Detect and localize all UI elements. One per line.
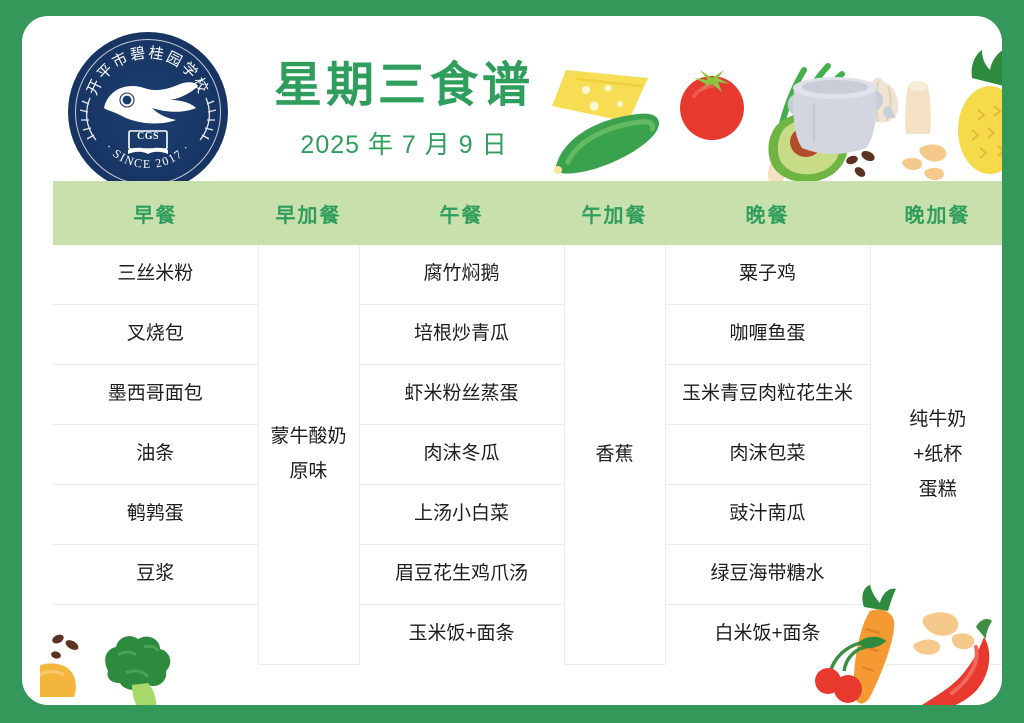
am-snack-cell: 蒙牛酸奶 原味 — [258, 245, 359, 664]
table-row: 墨西哥面包 虾米粉丝蒸蛋 玉米青豆肉粒花生米 — [53, 365, 1002, 425]
pot-and-seasoning-group — [780, 56, 980, 181]
table-row: 豆浆 眉豆花生鸡爪汤 绿豆海带糖水 — [53, 545, 1002, 605]
lunch-item: 玉米饭+面条 — [359, 605, 564, 665]
breakfast-item: 豆浆 — [53, 545, 258, 605]
column-header-dinner: 晚餐 — [665, 181, 870, 245]
raisin-icon — [845, 149, 876, 179]
cashew-icon — [902, 145, 946, 181]
eve-snack-line-1: 纯牛奶 — [875, 402, 1002, 437]
column-header-eve-snack: 晚加餐 — [870, 181, 1002, 245]
eve-snack-line-3: 蛋糕 — [875, 472, 1002, 507]
salt-shaker-icon — [905, 81, 931, 134]
column-header-pm-snack: 午加餐 — [564, 181, 665, 245]
lunch-item: 腐竹焖鹅 — [359, 245, 564, 305]
dinner-item: 咖喱鱼蛋 — [665, 305, 870, 365]
table-row: 三丝米粉 蒙牛酸奶 原味 腐竹焖鹅 香蕉 粟子鸡 纯牛奶 +纸杯 蛋糕 — [53, 245, 1002, 305]
lunch-item: 上汤小白菜 — [359, 485, 564, 545]
title-block: 星期三食谱 2025 年 7 月 9 日 — [254, 60, 554, 161]
cooking-pot-icon — [788, 77, 883, 154]
breakfast-item: 三丝米粉 — [53, 245, 258, 305]
table-row: 油条 肉沫冬瓜 肉沫包菜 — [53, 425, 1002, 485]
eve-snack-line-2: +纸杯 — [875, 437, 1002, 472]
school-logo: 开平市碧桂园学校 · SINCE 2017 · — [68, 32, 228, 192]
column-header-am-snack: 早加餐 — [258, 181, 359, 245]
logo-bird-emblem-icon — [96, 78, 200, 130]
cheese-icon — [552, 70, 648, 122]
lunch-item: 眉豆花生鸡爪汤 — [359, 545, 564, 605]
column-header-breakfast: 早餐 — [53, 181, 258, 245]
menu-table: 早餐 早加餐 午餐 午加餐 晚餐 晚加餐 三丝米粉 蒙牛酸奶 原味 腐竹焖鹅 香… — [53, 181, 1002, 665]
dinner-item: 粟子鸡 — [665, 245, 870, 305]
table-row: 玉米饭+面条 白米饭+面条 — [53, 605, 1002, 665]
poster-card: 开平市碧桂园学校 · SINCE 2017 · — [22, 16, 1002, 705]
lunch-item: 虾米粉丝蒸蛋 — [359, 365, 564, 425]
eve-snack-cell: 纯牛奶 +纸杯 蛋糕 — [870, 245, 1002, 664]
lunch-item: 培根炒青瓜 — [359, 305, 564, 365]
pm-snack-cell: 香蕉 — [564, 245, 665, 664]
dinner-item: 玉米青豆肉粒花生米 — [665, 365, 870, 425]
page-title: 星期三食谱 — [254, 60, 554, 113]
cucumber-icon — [554, 114, 659, 174]
breakfast-item: 鹌鹑蛋 — [53, 485, 258, 545]
logo-abbreviation: CGS — [137, 131, 159, 142]
tomato-icon — [680, 70, 744, 140]
dinner-item: 绿豆海带糖水 — [665, 545, 870, 605]
poster-header: 开平市碧桂园学校 · SINCE 2017 · — [22, 16, 1002, 181]
lunch-item: 肉沫冬瓜 — [359, 425, 564, 485]
breakfast-item: 油条 — [53, 425, 258, 485]
dinner-item: 白米饭+面条 — [665, 605, 870, 665]
am-snack-line-1: 蒙牛酸奶 — [263, 419, 355, 454]
table-row: 鹌鹑蛋 上汤小白菜 豉汁南瓜 — [53, 485, 1002, 545]
menu-poster: 开平市碧桂园学校 · SINCE 2017 · — [0, 0, 1024, 723]
breakfast-item: 墨西哥面包 — [53, 365, 258, 425]
dinner-item: 豉汁南瓜 — [665, 485, 870, 545]
am-snack-line-2: 原味 — [263, 454, 355, 489]
table-row: 叉烧包 培根炒青瓜 咖喱鱼蛋 — [53, 305, 1002, 365]
lemon-slice-icon — [40, 663, 76, 697]
breakfast-item — [53, 605, 258, 665]
table-header-row: 早餐 早加餐 午餐 午加餐 晚餐 晚加餐 — [53, 181, 1002, 245]
column-header-lunch: 午餐 — [359, 181, 564, 245]
menu-date: 2025 年 7 月 9 日 — [254, 125, 554, 161]
breakfast-item: 叉烧包 — [53, 305, 258, 365]
dinner-item: 肉沫包菜 — [665, 425, 870, 485]
